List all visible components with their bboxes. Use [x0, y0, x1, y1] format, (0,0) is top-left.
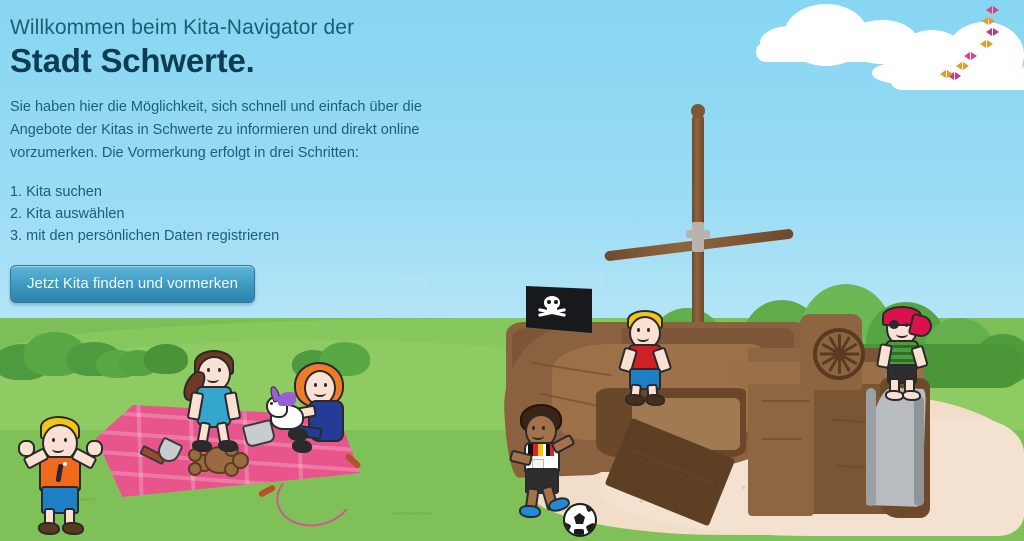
- find-kita-button[interactable]: Jetzt Kita finden und vormerken: [10, 265, 255, 303]
- kite-tail: [962, 0, 1022, 120]
- steps-list: 1. Kita suchen 2. Kita auswählen 3. mit …: [10, 181, 530, 247]
- page-title: Stadt Schwerte.: [10, 42, 530, 80]
- page-subtitle: Willkommen beim Kita-Navigator der: [10, 16, 530, 40]
- kita-navigator-hero: Willkommen beim Kita-Navigator der Stadt…: [0, 0, 1024, 541]
- child-pirate-bandana: [878, 306, 934, 402]
- list-item: 1. Kita suchen: [10, 181, 530, 203]
- child-boy-orange-shirt: [20, 416, 100, 534]
- list-item: 2. Kita auswählen: [10, 203, 530, 225]
- eye-patch-icon: [889, 320, 899, 329]
- soccer-ball: [563, 503, 597, 537]
- skull-and-crossbones-icon: [542, 296, 562, 314]
- hero-text-panel: Willkommen beim Kita-Navigator der Stadt…: [0, 0, 530, 303]
- pirate-flag: [526, 286, 592, 333]
- list-item: 3. mit den persönlichen Daten registrier…: [10, 225, 530, 247]
- child-boy-red-shirt-on-ship: [615, 310, 675, 410]
- child-girl-blue-dress: [184, 352, 248, 457]
- ships-wheel[interactable]: [813, 328, 865, 380]
- unicorn-toy: [262, 388, 308, 432]
- mast-knob: [691, 104, 705, 118]
- bush-left-2: [118, 344, 188, 378]
- intro-paragraph: Sie haben hier die Möglichkeit, sich sch…: [10, 96, 480, 165]
